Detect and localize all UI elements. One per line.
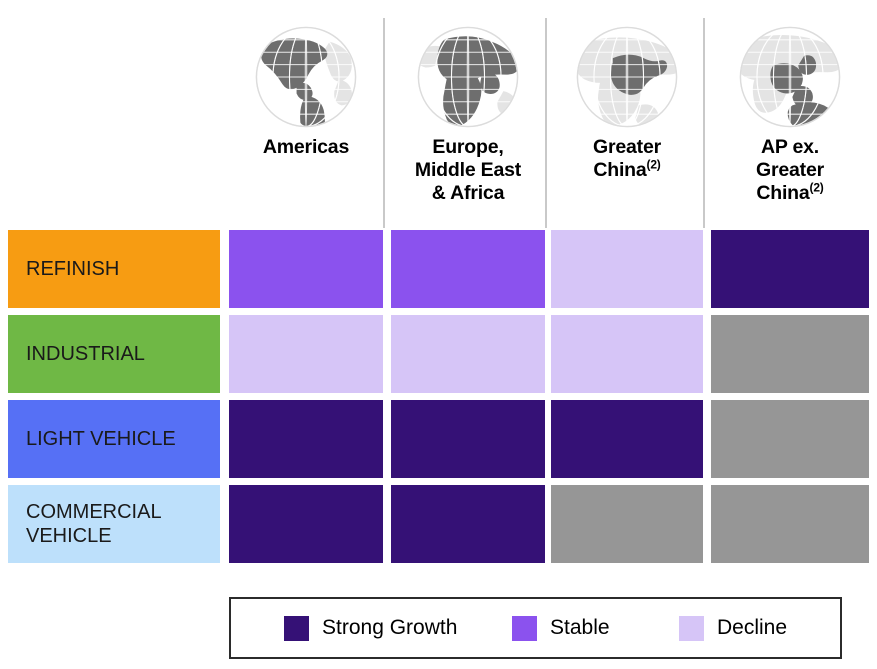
legend-label-strong-growth: Strong Growth — [322, 616, 457, 640]
matrix-row-commercial-vehicle: COMMERCIAL VEHICLE — [0, 485, 877, 563]
legend-item-stable: Stable — [512, 616, 610, 641]
column-title-americas: Americas — [263, 136, 349, 159]
matrix-row-light-vehicle: LIGHT VEHICLE — [0, 400, 877, 478]
matrix-cell-refinish-emea — [391, 230, 545, 308]
header-divider-3 — [703, 18, 705, 228]
legend-label-decline: Decline — [717, 616, 787, 640]
matrix-cell-industrial-americas — [229, 315, 383, 393]
globe-emea-icon — [403, 18, 533, 136]
legend-swatch-strong-growth — [284, 616, 309, 641]
legend-item-decline: Decline — [679, 616, 787, 641]
header-divider-2 — [545, 18, 547, 228]
row-label-commercial-vehicle: COMMERCIAL VEHICLE — [8, 485, 220, 563]
matrix-row-industrial: INDUSTRIAL — [0, 315, 877, 393]
footnote-marker-ap-ex-greater-china: (2) — [810, 180, 824, 194]
header-column-emea: Europe,Middle East& Africa — [391, 0, 545, 228]
matrix-cell-light-vehicle-emea — [391, 400, 545, 478]
header-divider-1 — [383, 18, 385, 228]
footnote-marker-greater-china: (2) — [647, 157, 661, 171]
legend-label-stable: Stable — [550, 616, 610, 640]
row-label-industrial: INDUSTRIAL — [8, 315, 220, 393]
column-title-emea: Europe,Middle East& Africa — [415, 136, 521, 204]
matrix-cell-commercial-vehicle-americas — [229, 485, 383, 563]
legend-swatch-stable — [512, 616, 537, 641]
matrix-cell-light-vehicle-americas — [229, 400, 383, 478]
matrix-cell-refinish-greater-china — [551, 230, 703, 308]
legend-swatch-decline — [679, 616, 704, 641]
matrix-cell-refinish-americas — [229, 230, 383, 308]
growth-outlook-matrix: REFINISHINDUSTRIALLIGHT VEHICLECOMMERCIA… — [0, 230, 877, 570]
column-title-ap-ex-greater-china: AP ex.GreaterChina(2) — [756, 136, 824, 204]
globe-americas-icon — [241, 18, 371, 136]
header-column-greater-china: GreaterChina(2) — [551, 0, 703, 228]
row-label-refinish: REFINISH — [8, 230, 220, 308]
matrix-cell-industrial-ap-ex-greater-china — [711, 315, 869, 393]
matrix-cell-refinish-ap-ex-greater-china — [711, 230, 869, 308]
header-column-americas: Americas — [229, 0, 383, 228]
matrix-cell-commercial-vehicle-ap-ex-greater-china — [711, 485, 869, 563]
matrix-cell-light-vehicle-greater-china — [551, 400, 703, 478]
row-label-light-vehicle: LIGHT VEHICLE — [8, 400, 220, 478]
matrix-cell-commercial-vehicle-emea — [391, 485, 545, 563]
matrix-row-refinish: REFINISH — [0, 230, 877, 308]
column-title-greater-china: GreaterChina(2) — [593, 136, 661, 182]
header-column-ap-ex-greater-china: AP ex.GreaterChina(2) — [711, 0, 869, 228]
globe-ap-ex-greater-china-icon — [725, 18, 855, 136]
matrix-cell-commercial-vehicle-greater-china — [551, 485, 703, 563]
legend-item-strong-growth: Strong Growth — [284, 616, 457, 641]
globe-greater-china-icon — [562, 18, 692, 136]
matrix-cell-light-vehicle-ap-ex-greater-china — [711, 400, 869, 478]
region-header: AmericasEurope,Middle East& AfricaGreate… — [0, 0, 877, 230]
matrix-cell-industrial-greater-china — [551, 315, 703, 393]
legend: Strong GrowthStableDecline — [229, 597, 842, 659]
matrix-cell-industrial-emea — [391, 315, 545, 393]
